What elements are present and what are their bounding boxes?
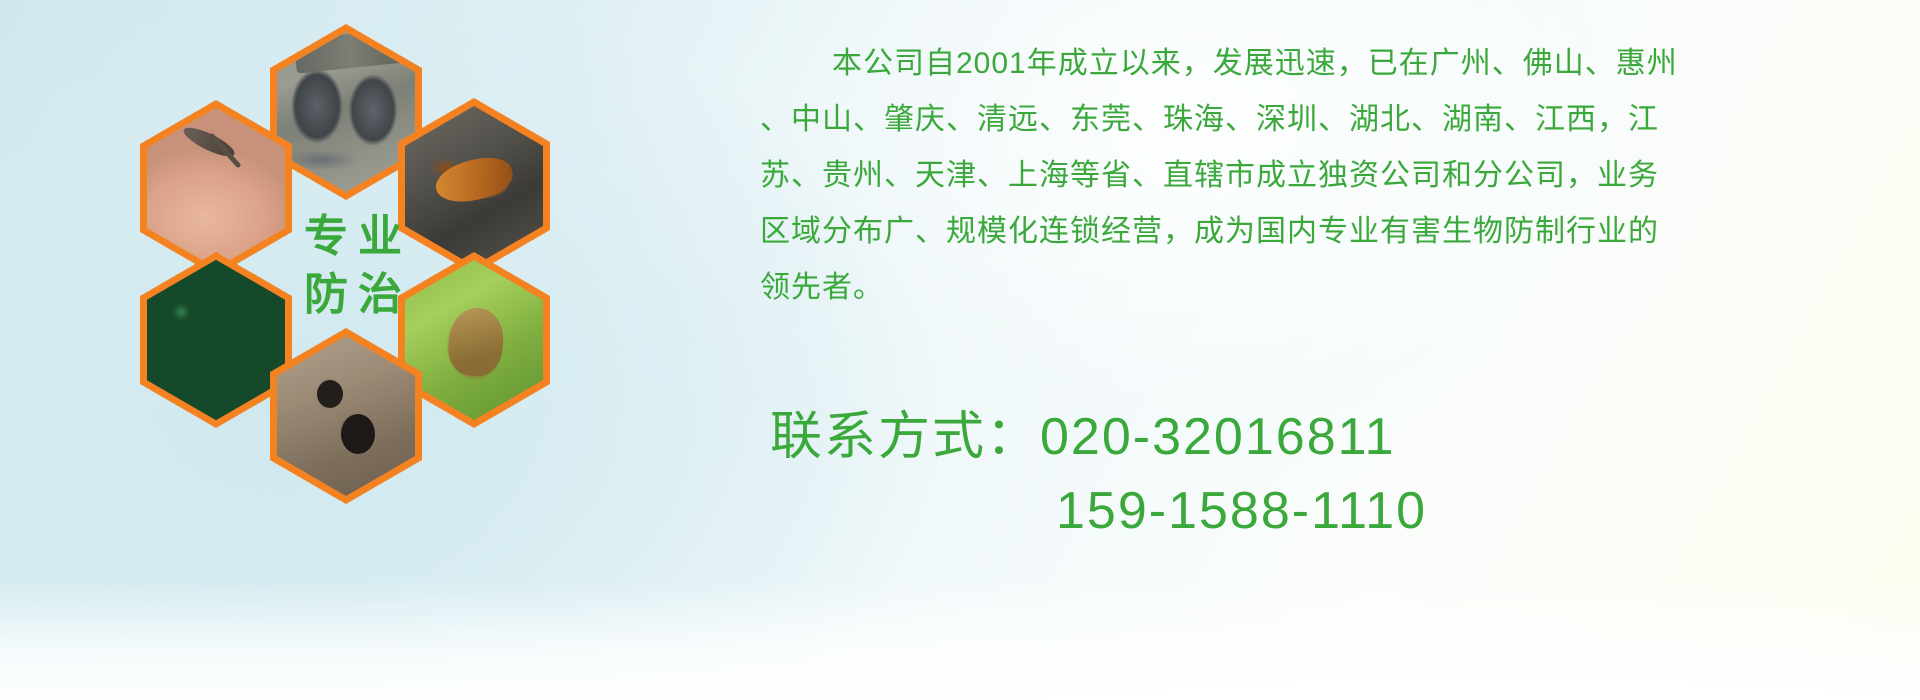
hex-photo-mosquito [140, 100, 292, 276]
hex-photo-flies-inner [147, 260, 285, 420]
ant-photo-icon [277, 336, 415, 496]
contact-primary-line: 联系方式：020-32016811 [770, 400, 1870, 474]
contact-block: 联系方式：020-32016811 159-1588-1110 [770, 400, 1870, 548]
hex-photo-ant-inner [277, 336, 415, 496]
slogan-block: 专业 防治 [278, 182, 428, 350]
hex-photo-rats-inner [277, 32, 415, 192]
slogan-line-1: 专业 [294, 215, 412, 259]
hex-photo-mosquito-inner [147, 108, 285, 268]
contact-phone-primary[interactable]: 020-32016811 [1040, 408, 1396, 466]
intro-line-2: 、中山、肇庆、清远、东莞、珠海、深圳、湖北、湖南、江西，江 [760, 92, 1870, 148]
contact-label: 联系方式： [770, 408, 1040, 466]
intro-line-3: 苏、贵州、天津、上海等省、直辖市成立独资公司和分公司，业务 [760, 148, 1870, 204]
flies-photo-icon [147, 260, 285, 420]
slogan-line-2: 防治 [294, 273, 412, 317]
contact-phone-secondary[interactable]: 159-1588-1110 [1056, 482, 1427, 540]
intro-line-1: 本公司自2001年成立以来，发展迅速，已在广州、佛山、惠州 [760, 36, 1870, 92]
hex-photo-flies [140, 252, 292, 428]
intro-line-4: 区域分布广、规模化连锁经营，成为国内专业有害生物防制行业的 [760, 204, 1870, 260]
hexagon-photo-cluster: 专业 防治 [92, 10, 592, 570]
mosquito-photo-icon [147, 108, 285, 268]
pest-control-banner: 专业 防治 本公司自2001年成立以来，发展迅速，已在广州、佛山、惠州 、中山、… [0, 0, 1920, 700]
rats-photo-icon [277, 32, 415, 192]
intro-line-5: 领先者。 [760, 260, 1870, 316]
intro-paragraph: 本公司自2001年成立以来，发展迅速，已在广州、佛山、惠州 、中山、肇庆、清远、… [760, 36, 1870, 316]
contact-secondary-line: 159-1588-1110 [770, 474, 1870, 548]
